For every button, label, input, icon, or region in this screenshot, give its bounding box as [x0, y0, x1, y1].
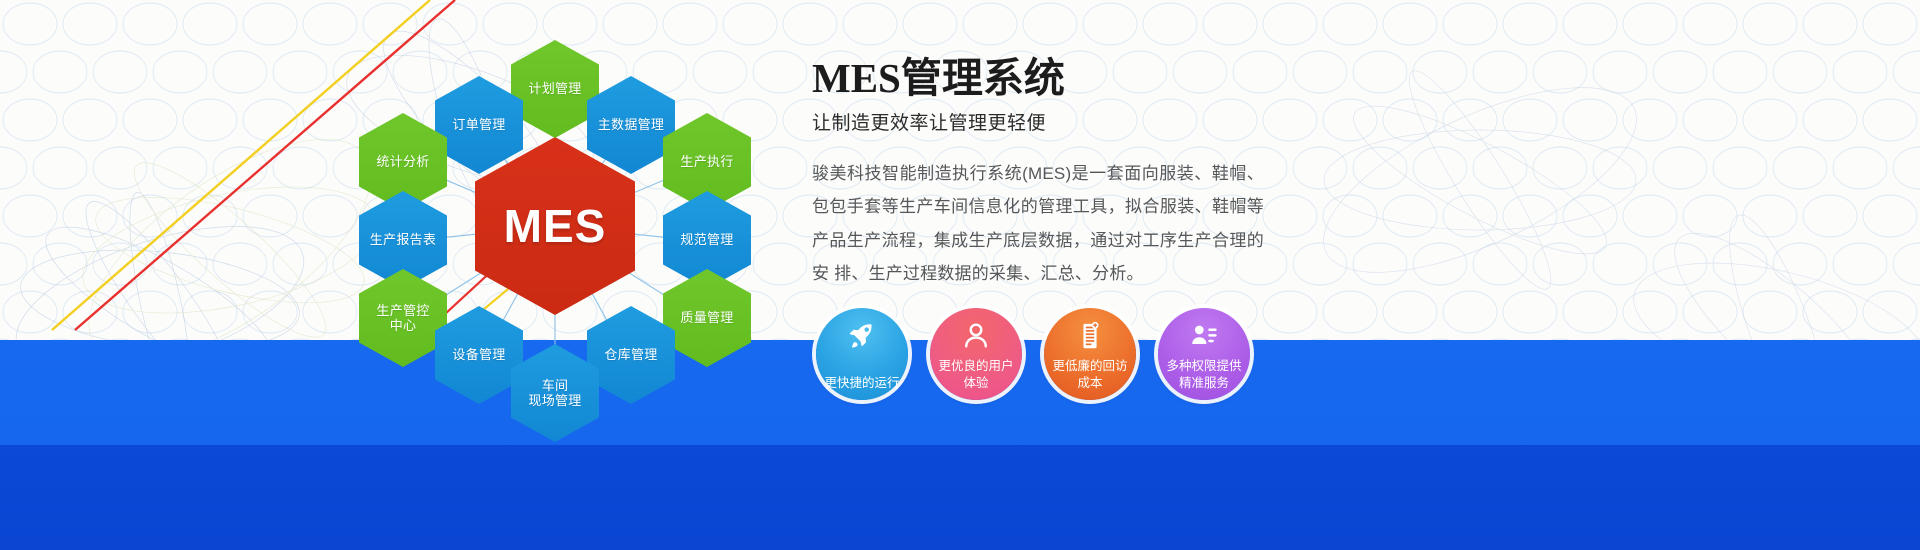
feature-badge-faster-operation[interactable]: 更快捷的运行	[816, 308, 908, 400]
hex-label: 生产执行	[676, 154, 737, 169]
blue-band-lower	[0, 445, 1920, 550]
mes-banner: MES 计划管理 订单管理 主数据管理 统计分析 生产执行 生产报告表 规范管理…	[0, 0, 1920, 550]
hex-core-label: MES	[500, 199, 611, 253]
mes-hexagon-diagram: MES 计划管理 订单管理 主数据管理 统计分析 生产执行 生产报告表 规范管理…	[330, 14, 780, 434]
id-card-icon	[1189, 321, 1219, 351]
hex-label: 设备管理	[448, 347, 509, 362]
hex-node-shengchan-guankong-zhongxin[interactable]: 生产管控中心	[359, 269, 447, 367]
hex-label: 计划管理	[524, 81, 585, 96]
badge-label: 多种权限提供精准服务	[1160, 358, 1248, 391]
rocket-icon	[847, 321, 877, 351]
feature-badge-better-user-experience[interactable]: 更优良的用户体验	[930, 308, 1022, 400]
hex-label: 生产报告表	[366, 232, 441, 247]
feature-badge-multi-permission-service[interactable]: 多种权限提供精准服务	[1158, 308, 1250, 400]
hex-label: 生产管控中心	[372, 303, 433, 334]
badge-label: 更快捷的运行	[818, 375, 906, 392]
page-title: MES管理系统	[812, 56, 1282, 100]
hex-node-dingdan-guanli[interactable]: 订单管理	[435, 76, 523, 174]
hex-node-zhiliang-guanli[interactable]: 质量管理	[663, 269, 751, 367]
intro-paragraph: 骏美科技智能制造执行系统(MES)是一套面向服装、鞋帽、包包手套等生产车间信息化…	[812, 157, 1264, 290]
page-subtitle: 让制造更效率让管理更轻便	[812, 108, 1282, 135]
user-icon	[961, 321, 991, 351]
hex-label: 规范管理	[676, 232, 737, 247]
feature-badge-list: 更快捷的运行 更优良的用户体验	[816, 308, 1266, 400]
badge-label: 更低廉的回访成本	[1046, 358, 1134, 391]
hex-core-mes[interactable]: MES	[475, 137, 635, 315]
hex-label: 车间现场管理	[524, 378, 585, 409]
hex-label: 订单管理	[448, 117, 509, 132]
hex-node-cangku-guanli[interactable]: 仓库管理	[587, 306, 675, 404]
hex-label: 主数据管理	[594, 117, 669, 132]
feature-badge-lower-revisit-cost[interactable]: 更低廉的回访成本	[1044, 308, 1136, 400]
banner-content: MES管理系统 让制造更效率让管理更轻便 骏美科技智能制造执行系统(MES)是一…	[812, 56, 1282, 290]
hex-node-jihua-guanli[interactable]: 计划管理	[511, 40, 599, 138]
hex-label: 仓库管理	[600, 347, 661, 362]
badge-label: 更优良的用户体验	[932, 358, 1020, 391]
hex-label: 质量管理	[676, 310, 737, 325]
document-icon	[1075, 321, 1105, 351]
hex-node-cheijian-xianchang-guanli[interactable]: 车间现场管理	[511, 344, 599, 442]
hex-node-zhushuju-guanli[interactable]: 主数据管理	[587, 76, 675, 174]
hex-label: 统计分析	[372, 154, 433, 169]
hex-node-shebei-guanli[interactable]: 设备管理	[435, 306, 523, 404]
